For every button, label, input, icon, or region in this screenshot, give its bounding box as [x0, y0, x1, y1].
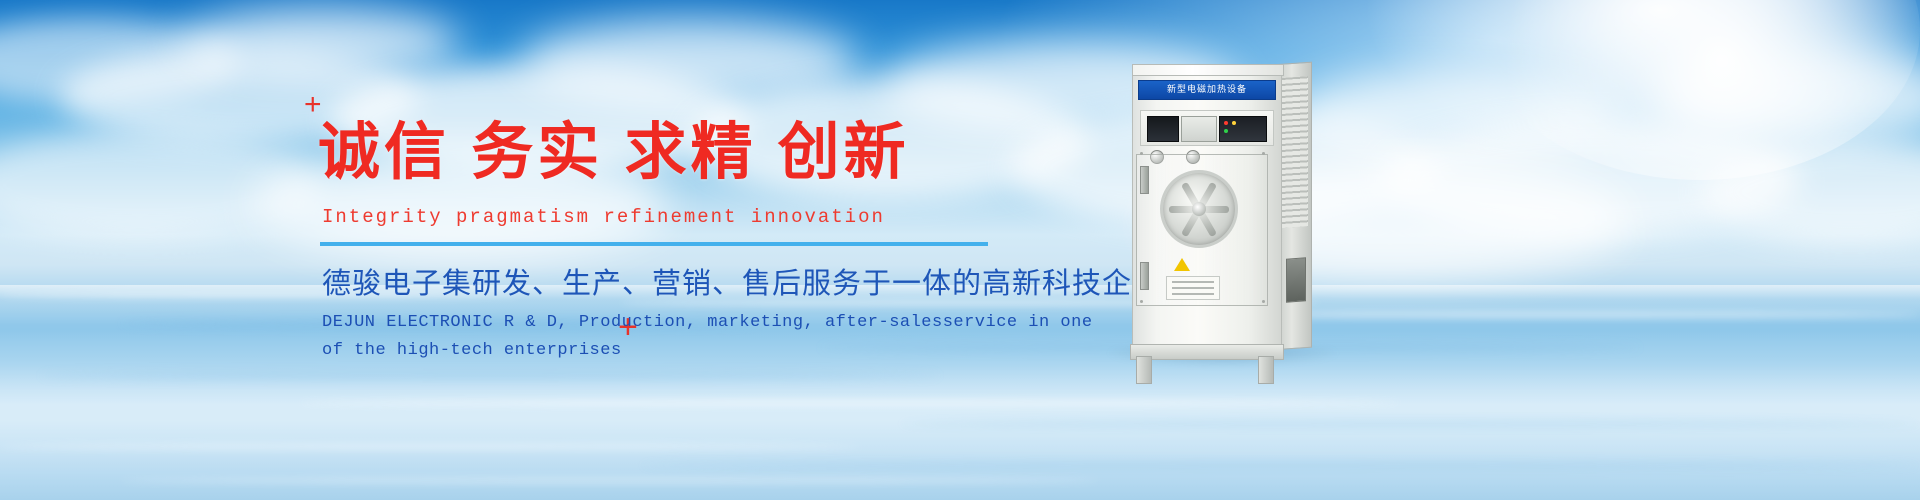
description-english-line2: of the high-tech enterprises [322, 341, 622, 360]
machine-side-outlet [1286, 257, 1306, 302]
cloud-shape [520, 20, 860, 104]
machine-screw [1140, 300, 1143, 303]
machine-screw [1262, 152, 1265, 155]
water-streak [300, 400, 1400, 405]
cloud-shape [1700, 140, 1920, 244]
machine-display-left [1147, 116, 1179, 142]
product-image-heating-equipment: 新型电磁加热设备 [1126, 62, 1316, 362]
machine-hinge [1140, 166, 1149, 194]
cloud-shape [1290, 70, 1620, 160]
machine-gauge-meter [1181, 116, 1217, 142]
water-streak [900, 420, 1920, 427]
machine-hinge [1140, 262, 1149, 290]
led-indicator-red [1224, 121, 1228, 125]
water-streak [40, 372, 940, 379]
water-streak [0, 444, 860, 449]
machine-vent-grille [1282, 76, 1308, 228]
description-chinese: 德骏电子集研发、生产、营销、售后服务于一体的高新科技企业 [322, 266, 1162, 301]
headline-chinese: 诚信 务实 求精 创新 [318, 120, 910, 185]
machine-brand-label: 新型电磁加热设备 [1138, 80, 1276, 100]
machine-screw [1140, 152, 1143, 155]
led-indicator-green [1224, 129, 1228, 133]
description-english-line1: DEJUN ELECTRONIC R & D, Production, mark… [322, 313, 1093, 332]
led-indicator-amber [1232, 121, 1236, 125]
machine-control-panel [1140, 110, 1274, 146]
plus-ornament-icon: + [304, 90, 322, 120]
fan-blade [1199, 206, 1229, 213]
machine-display-right [1219, 116, 1267, 142]
fan-blade [1169, 206, 1199, 213]
water-streak [120, 478, 1100, 483]
machine-leg [1136, 356, 1152, 384]
cloud-shape [0, 130, 320, 240]
machine-leg [1258, 356, 1274, 384]
machine-screw [1262, 300, 1265, 303]
headline-english: Integrity pragmatism refinement innovati… [322, 206, 885, 228]
warning-triangle-icon [1174, 258, 1190, 271]
machine-fan-vent [1160, 170, 1238, 248]
cloud-shape [0, 18, 240, 104]
machine-spec-plate [1166, 276, 1220, 300]
machine-top-panel [1132, 64, 1284, 76]
hero-banner: + + 诚信 务实 求精 创新 Integrity pragmatism ref… [0, 0, 1920, 500]
cloud-shape [1660, 48, 1920, 144]
sun-glow [1480, 0, 1920, 180]
water-streak [640, 462, 1920, 469]
cloud-shape [1380, 120, 1800, 238]
divider-line [320, 242, 988, 246]
cloud-shape [180, 8, 460, 78]
